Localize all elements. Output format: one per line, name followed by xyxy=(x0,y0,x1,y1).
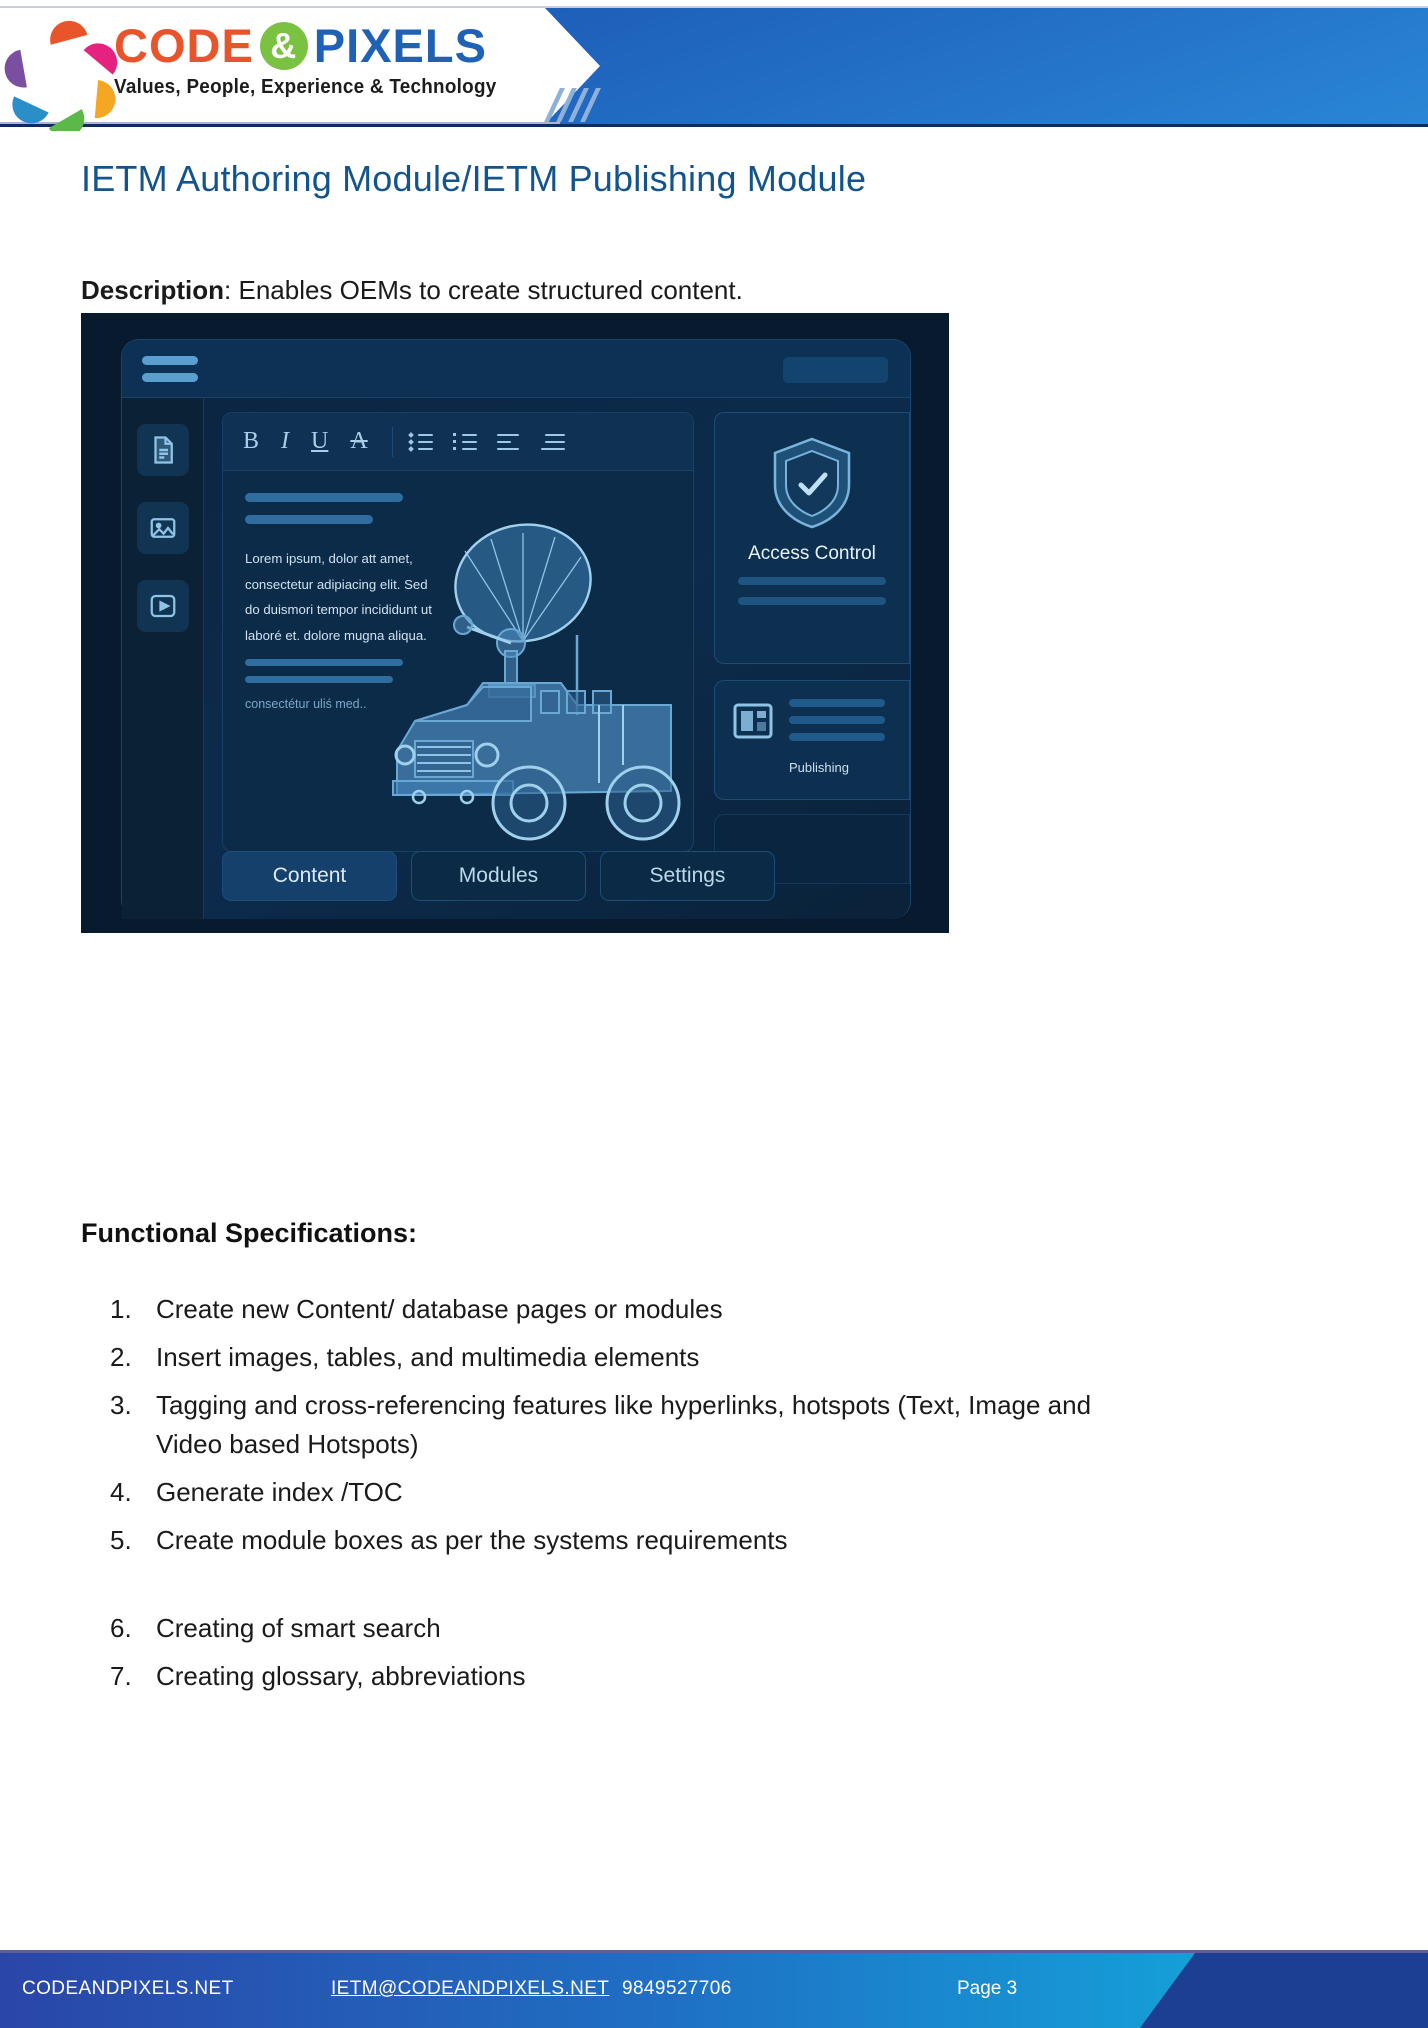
panel-placeholder-line xyxy=(738,577,886,585)
mockup-right-panels: Access Control xyxy=(714,412,910,884)
align-left-icon[interactable] xyxy=(497,432,521,452)
tab-settings[interactable]: Settings xyxy=(600,851,775,901)
numbered-list-icon[interactable] xyxy=(453,432,477,452)
access-control-label: Access Control xyxy=(748,543,876,565)
list-item-text: Tagging and cross-referencing features l… xyxy=(156,1386,1110,1464)
publishing-placeholder-lines xyxy=(789,699,885,750)
list-item-text: Create module boxes as per the systems r… xyxy=(156,1521,788,1560)
mockup-app-window: B I U A xyxy=(121,339,911,919)
panel-placeholder-line xyxy=(738,597,886,605)
mockup-sidebar xyxy=(122,398,204,919)
list-item: 6. Creating of smart search xyxy=(110,1609,1110,1648)
list-item-number: 7. xyxy=(110,1657,156,1696)
bulleted-list-icon[interactable] xyxy=(409,432,433,452)
list-item-number: 5. xyxy=(110,1521,156,1560)
page-title: IETM Authoring Module/IETM Publishing Mo… xyxy=(81,158,866,200)
document-icon[interactable] xyxy=(137,424,189,476)
pinwheel-logo-icon xyxy=(20,18,104,102)
page-header: CODE & PIXELS Values, People, Experience… xyxy=(0,0,1428,131)
list-item-text: Creating of smart search xyxy=(156,1609,441,1648)
page-footer: CODEANDPIXELS.NET IETM@CODEANDPIXELS.NET… xyxy=(0,1930,1428,2028)
brand-logo[interactable]: CODE & PIXELS Values, People, Experience… xyxy=(20,18,530,102)
brand-name-code: CODE xyxy=(114,22,254,69)
brand-ampersand-badge: & xyxy=(260,22,308,70)
hamburger-menu-icon[interactable] xyxy=(142,356,198,390)
list-item-text: Generate index /TOC xyxy=(156,1473,403,1512)
underline-button[interactable]: U xyxy=(311,428,328,455)
functional-specs-heading: Functional Specifications: xyxy=(81,1218,417,1249)
publishing-layout-icon xyxy=(731,699,775,743)
ietm-authoring-mockup: B I U A xyxy=(81,313,949,933)
brand-tagline: Values, People, Experience & Technology xyxy=(114,75,497,99)
list-item-number: 6. xyxy=(110,1609,156,1648)
list-item-text: Creating glossary, abbreviations xyxy=(156,1657,525,1696)
tab-content[interactable]: Content xyxy=(222,851,397,901)
brand-name-pixels: PIXELS xyxy=(314,22,487,69)
video-icon[interactable] xyxy=(137,580,189,632)
list-item: 5. Create module boxes as per the system… xyxy=(110,1521,1110,1560)
indent-icon[interactable] xyxy=(541,432,565,452)
shield-check-icon xyxy=(769,435,855,531)
functional-specs-list: 1. Create new Content/ database pages or… xyxy=(110,1290,1110,1705)
mockup-topbar xyxy=(122,340,910,398)
publishing-panel[interactable]: Publishing xyxy=(714,680,910,800)
mockup-tab-bar: Content Modules Settings xyxy=(222,851,775,901)
header-bottom-rule xyxy=(0,124,1428,127)
list-item-number: 1. xyxy=(110,1290,156,1329)
description-text: : Enables OEMs to create structured cont… xyxy=(224,275,743,305)
list-item-text: Insert images, tables, and multimedia el… xyxy=(156,1338,699,1377)
toolbar-divider xyxy=(392,427,393,457)
image-icon[interactable] xyxy=(137,502,189,554)
header-stripes-decoration xyxy=(552,82,622,124)
list-item: 1. Create new Content/ database pages or… xyxy=(110,1290,1110,1329)
footer-page-number: Page 3 xyxy=(957,1978,1017,2000)
editor-toolbar: B I U A xyxy=(223,413,693,471)
publishing-row xyxy=(731,699,909,750)
list-item-text: Create new Content/ database pages or mo… xyxy=(156,1290,723,1329)
list-item: 4. Generate index /TOC xyxy=(110,1473,1110,1512)
italic-button[interactable]: I xyxy=(281,428,289,455)
publishing-label: Publishing xyxy=(731,760,907,775)
list-item: 7. Creating glossary, abbreviations xyxy=(110,1657,1110,1696)
list-spacer xyxy=(110,1569,1110,1609)
editor-placeholder-bar xyxy=(245,493,403,502)
brand-name: CODE & PIXELS xyxy=(114,22,530,70)
description-paragraph: Description: Enables OEMs to create stru… xyxy=(81,275,743,306)
description-label: Description xyxy=(81,275,224,305)
list-item: 3. Tagging and cross-referencing feature… xyxy=(110,1386,1110,1464)
armored-vehicle-illustration xyxy=(371,515,691,845)
document-page: CODE & PIXELS Values, People, Experience… xyxy=(0,0,1428,2028)
brand-text: CODE & PIXELS Values, People, Experience… xyxy=(114,22,530,99)
editor-placeholder-bar xyxy=(245,515,373,524)
list-item: 2. Insert images, tables, and multimedia… xyxy=(110,1338,1110,1377)
list-item-number: 4. xyxy=(110,1473,156,1512)
footer-phone: 9849527706 xyxy=(622,1978,732,2000)
footer-website[interactable]: CODEANDPIXELS.NET xyxy=(22,1978,234,2000)
footer-email-link[interactable]: IETM@CODEANDPIXELS.NET xyxy=(331,1978,609,2000)
topbar-chip[interactable] xyxy=(783,357,888,383)
list-item-number: 2. xyxy=(110,1338,156,1377)
access-control-panel[interactable]: Access Control xyxy=(714,412,910,664)
bold-button[interactable]: B xyxy=(243,428,259,455)
strikethrough-button[interactable]: A xyxy=(350,428,367,455)
mockup-editor-panel: B I U A xyxy=(222,412,694,852)
list-item-number: 3. xyxy=(110,1386,156,1464)
tab-modules[interactable]: Modules xyxy=(411,851,586,901)
